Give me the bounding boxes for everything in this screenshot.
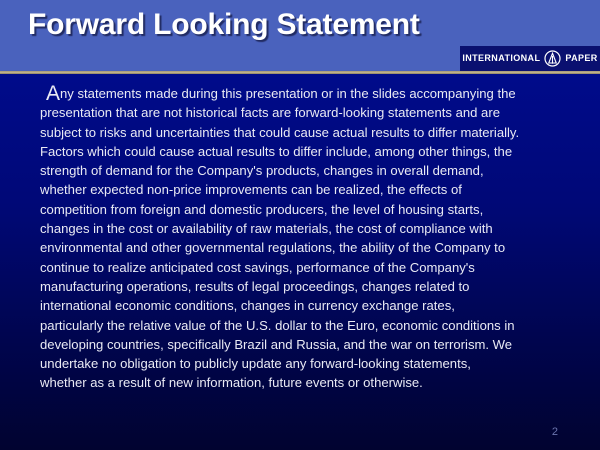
slide: Forward Looking Statement INTERNATIONAL …: [0, 0, 600, 450]
header-divider: [0, 71, 600, 74]
disclaimer-text: ny statements made during this presentat…: [40, 86, 519, 390]
page-title: Forward Looking Statement: [28, 8, 420, 42]
logo-word-international: INTERNATIONAL: [462, 54, 540, 63]
international-paper-logo: INTERNATIONAL PAPER: [460, 46, 600, 71]
drop-cap: A: [46, 82, 60, 105]
disclaimer-paragraph: Any statements made during this presenta…: [40, 84, 520, 393]
page-number: 2: [552, 427, 558, 438]
disclaimer-body: Any statements made during this presenta…: [40, 84, 520, 393]
logo-word-paper: PAPER: [565, 54, 597, 63]
tree-in-circle-icon: [544, 50, 561, 67]
